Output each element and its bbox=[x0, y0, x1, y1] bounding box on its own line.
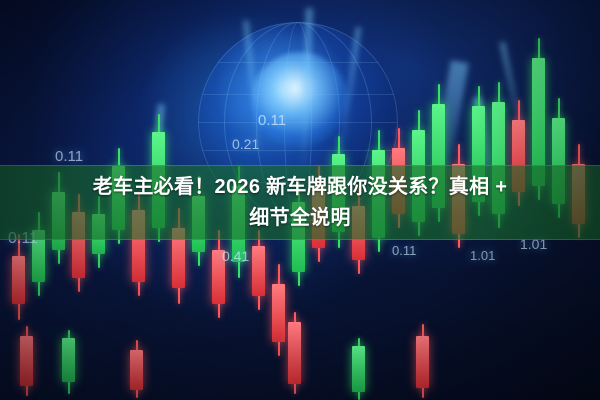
headline-line-1: 老车主必看！2026 新车牌跟你没关系？真相 + bbox=[93, 176, 508, 198]
price-number: 0.21 bbox=[232, 136, 259, 152]
headline-band: 老车主必看！2026 新车牌跟你没关系？真相 + 细节全说明 bbox=[0, 165, 600, 240]
candlestick-body bbox=[352, 346, 365, 392]
price-number: 0.41 bbox=[222, 248, 249, 264]
banner-image: 0.110.210.110.110.410.111.011.01 老车主必看！2… bbox=[0, 0, 600, 400]
page-title: 老车主必看！2026 新车牌跟你没关系？真相 + 细节全说明 bbox=[20, 172, 580, 234]
candlestick-body bbox=[252, 246, 265, 296]
candlestick-body bbox=[130, 350, 143, 390]
candlestick-body bbox=[62, 338, 75, 382]
price-number: 1.01 bbox=[470, 248, 495, 263]
candlestick-body bbox=[272, 284, 285, 342]
candlestick-body bbox=[20, 336, 33, 386]
candlestick-body bbox=[288, 322, 301, 384]
price-number: 0.11 bbox=[392, 243, 416, 258]
headline-line-2: 细节全说明 bbox=[249, 207, 351, 229]
candlestick-body bbox=[416, 336, 429, 388]
price-number: 0.11 bbox=[258, 112, 286, 129]
price-number: 0.11 bbox=[55, 148, 83, 165]
